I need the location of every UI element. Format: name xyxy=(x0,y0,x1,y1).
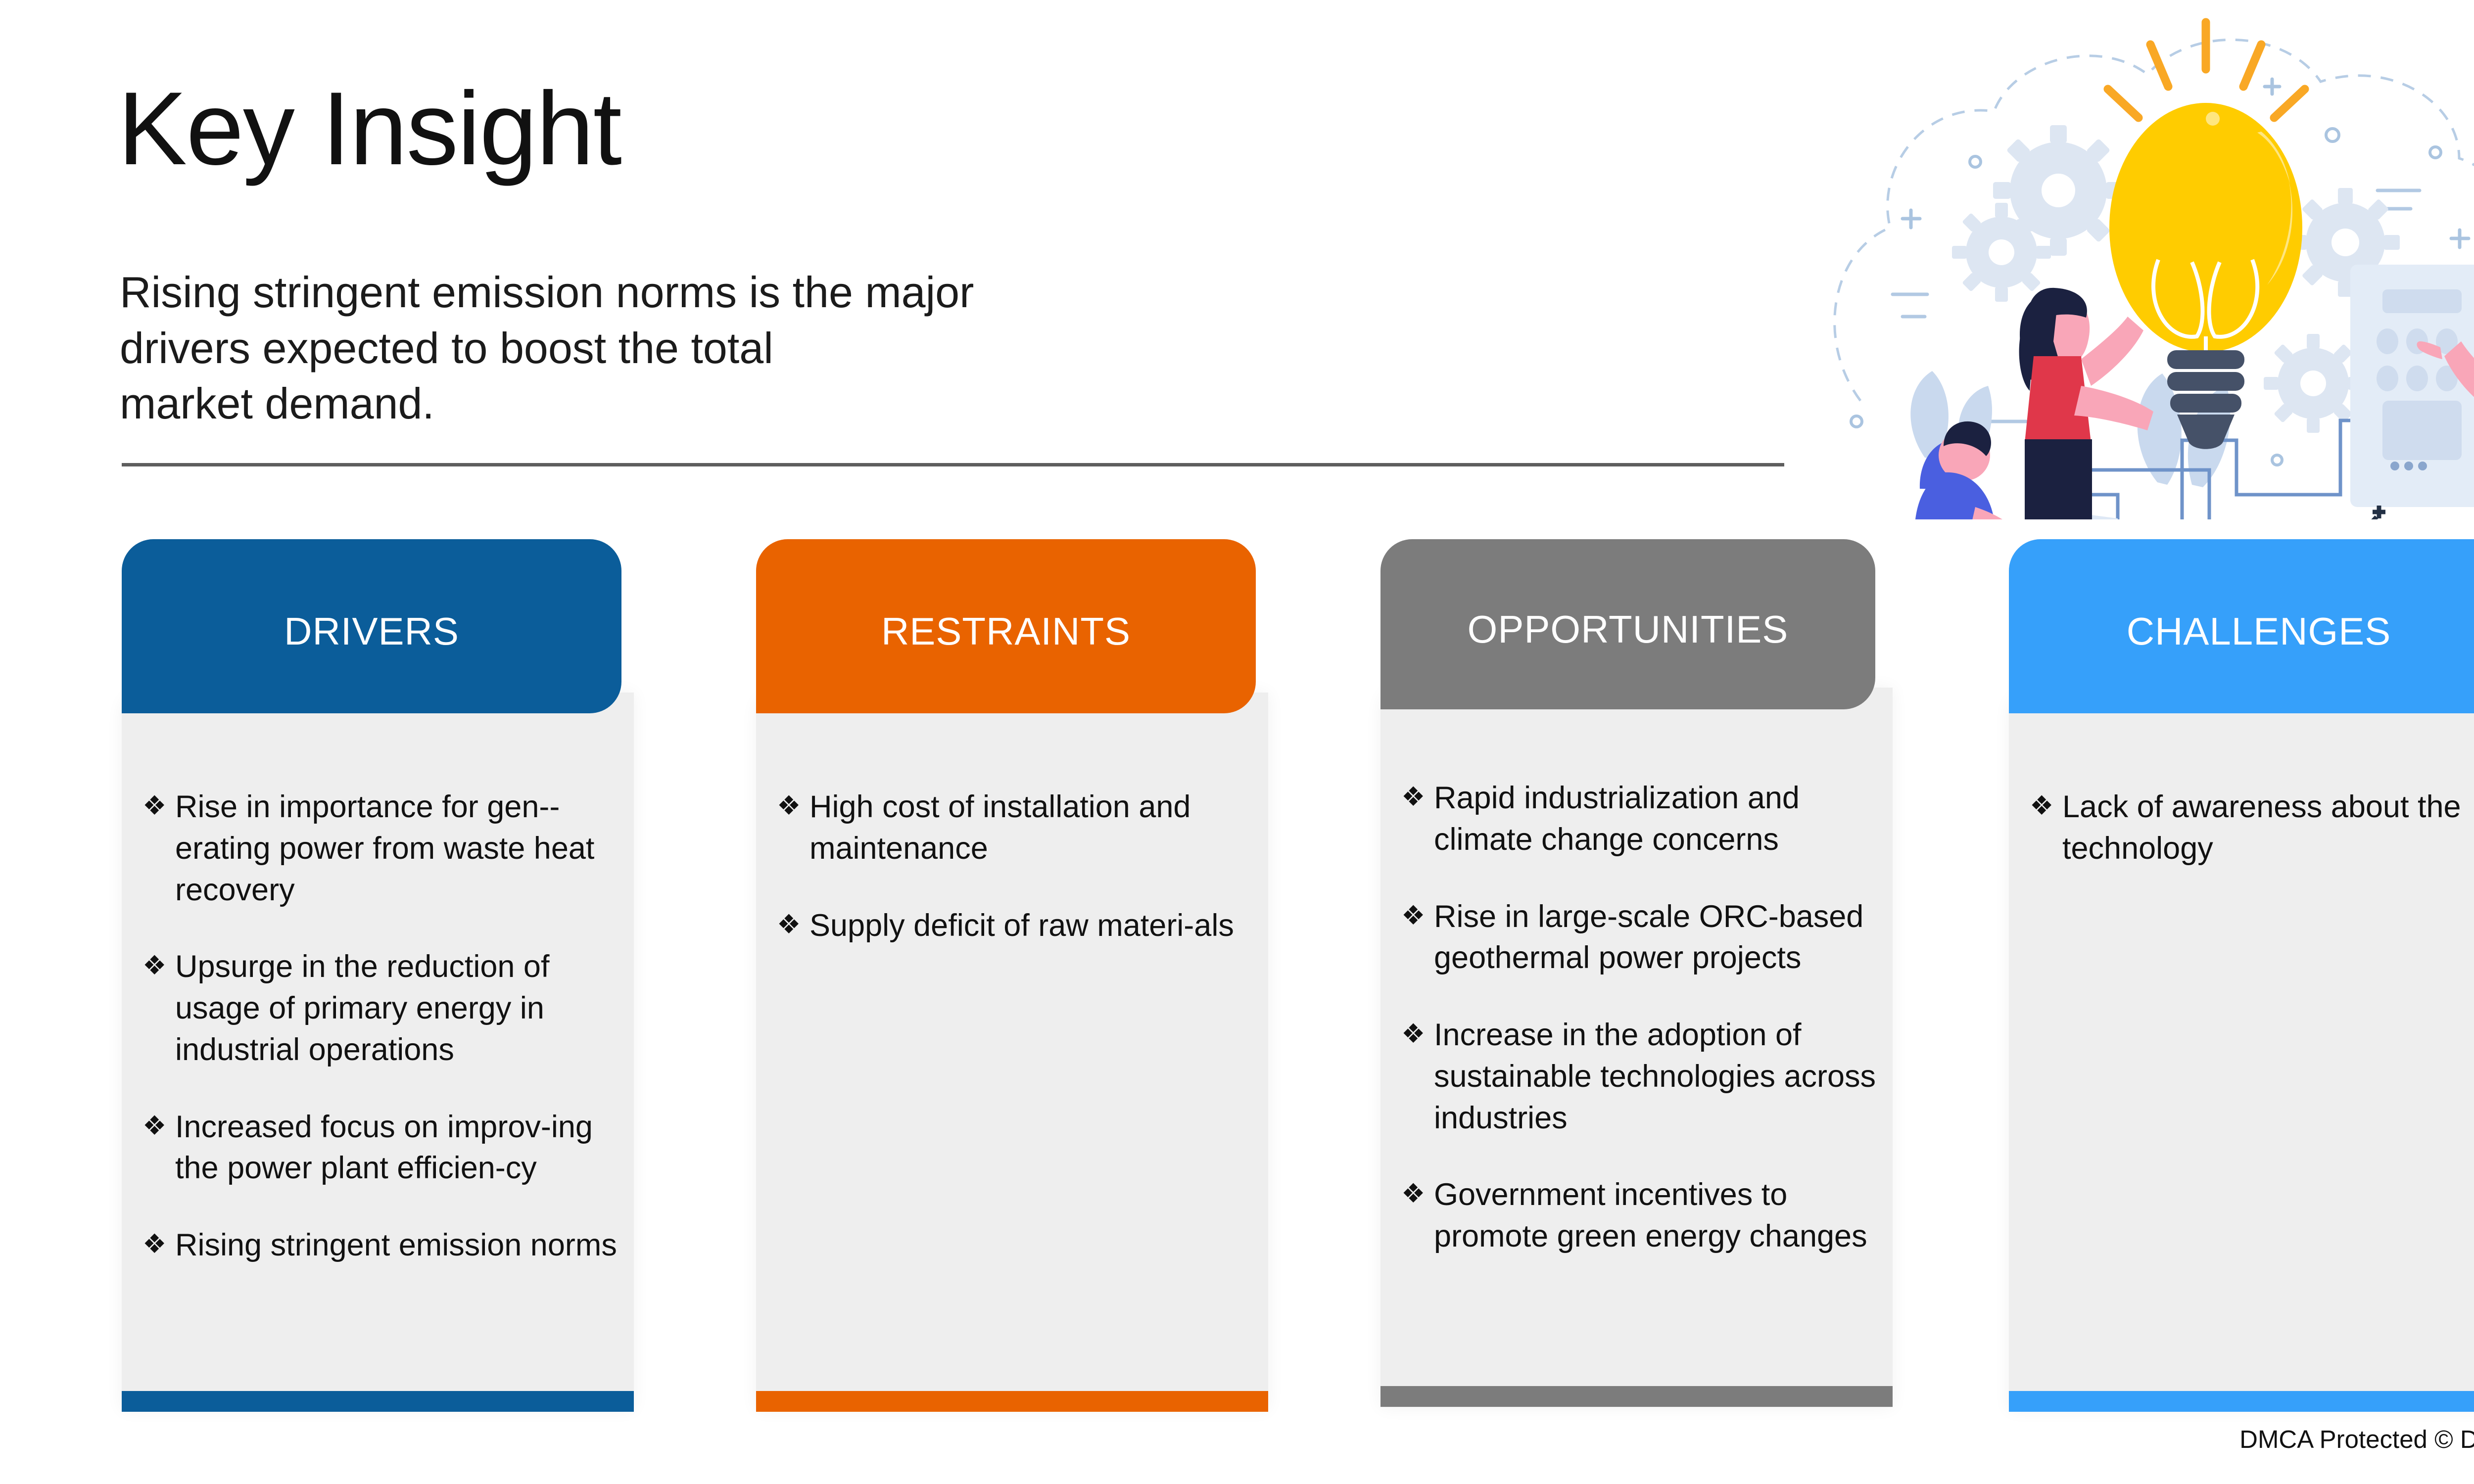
bullet-list-opportunities: ❖ Rapid industrialization and climate ch… xyxy=(1401,778,1876,1257)
list-item: ❖ Rising stringent emission norms xyxy=(143,1225,618,1266)
list-item: ❖ Supply deficit of raw materi-­als xyxy=(777,905,1252,947)
list-item-text: Rising stringent emission norms xyxy=(175,1225,618,1266)
diamond-bullet-icon: ❖ xyxy=(143,1107,175,1144)
list-item-text: Rise in importance for gen-­erating powe… xyxy=(175,787,618,911)
card-body-opportunities: ❖ Rapid industrialization and climate ch… xyxy=(1380,688,1893,1407)
list-item: ❖ Rapid industrialization and climate ch… xyxy=(1401,778,1876,861)
list-item-text: Increase in the adoption of sustainable … xyxy=(1434,1015,1876,1139)
card-body-challenges: ❖ Lack of awareness about the technology xyxy=(2009,693,2474,1410)
diamond-bullet-icon: ❖ xyxy=(2030,787,2062,824)
page-title: Key Insight xyxy=(118,74,621,184)
diamond-bullet-icon: ❖ xyxy=(143,787,175,824)
list-item-text: Government incentives to promote green e… xyxy=(1434,1174,1876,1257)
tab-restraints-label: RESTRAINTS xyxy=(881,612,1131,650)
tab-challenges-label: CHALLENGES xyxy=(2127,612,2391,650)
page-title-text: Key Insight xyxy=(118,70,621,186)
diamond-bullet-icon: ❖ xyxy=(143,1225,175,1262)
tab-opportunities[interactable]: OPPORTUNITIES xyxy=(1380,539,1875,709)
list-item-text: High cost of installation and maintenanc… xyxy=(809,787,1252,870)
page-subtitle-line-1: Rising stringent emission norms is the m… xyxy=(120,265,974,321)
diamond-bullet-icon: ❖ xyxy=(143,946,175,984)
list-item: ❖ Increased focus on improv-­ing the pow… xyxy=(143,1107,618,1190)
list-item-text: Rapid industrialization and climate chan… xyxy=(1434,778,1876,861)
list-item-text: Upsurge in the reduction of usage of pri… xyxy=(175,946,618,1070)
diamond-bullet-icon: ❖ xyxy=(1401,778,1434,815)
tab-challenges[interactable]: CHALLENGES xyxy=(2009,539,2474,713)
list-item: ❖ Rise in importance for gen-­erating po… xyxy=(143,787,618,911)
tab-drivers-label: DRIVERS xyxy=(284,612,459,650)
list-item: ❖ Rise in large-scale ORC-based geotherm… xyxy=(1401,896,1876,979)
bullet-list-challenges: ❖ Lack of awareness about the technology xyxy=(2030,787,2474,870)
bullet-list-restraints: ❖ High cost of installation and maintena… xyxy=(777,787,1252,946)
card-body-restraints: ❖ High cost of installation and maintena… xyxy=(756,693,1268,1410)
diamond-bullet-icon: ❖ xyxy=(777,787,809,824)
idea-lightbulb-teamwork-illustration xyxy=(1801,0,2474,519)
header-divider xyxy=(122,463,1784,466)
footer-credit: DMCA Protected © DataBridge xyxy=(2239,1425,2474,1454)
tab-opportunities-label: OPPORTUNITIES xyxy=(1468,610,1789,649)
accent-bar-restraints xyxy=(756,1391,1268,1412)
list-item-text: Supply deficit of raw materi-­als xyxy=(809,905,1252,947)
tab-drivers[interactable]: DRIVERS xyxy=(122,539,621,713)
list-item-text: Rise in large-scale ORC-based geothermal… xyxy=(1434,896,1876,979)
diamond-bullet-icon: ❖ xyxy=(1401,896,1434,934)
accent-bar-opportunities xyxy=(1380,1386,1893,1407)
bullet-list-drivers: ❖ Rise in importance for gen-­erating po… xyxy=(143,787,618,1266)
list-item: ❖ Government incentives to promote green… xyxy=(1401,1174,1876,1257)
list-item: ❖ Lack of awareness about the technology xyxy=(2030,787,2474,870)
list-item: ❖ High cost of installation and maintena… xyxy=(777,787,1252,870)
accent-bar-challenges xyxy=(2009,1391,2474,1412)
diamond-bullet-icon: ❖ xyxy=(1401,1015,1434,1052)
diamond-bullet-icon: ❖ xyxy=(1401,1174,1434,1212)
page-subtitle: Rising stringent emission norms is the m… xyxy=(120,265,974,432)
list-item: ❖ Upsurge in the reduction of usage of p… xyxy=(143,946,618,1070)
accent-bar-drivers xyxy=(122,1391,634,1412)
list-item: ❖ Increase in the adoption of sustainabl… xyxy=(1401,1015,1876,1139)
diamond-bullet-icon: ❖ xyxy=(777,905,809,943)
page-subtitle-line-3: market demand. xyxy=(120,376,974,432)
page-subtitle-line-2: drivers expected to boost the total xyxy=(120,321,974,376)
list-item-text: Lack of awareness about the technology xyxy=(2062,787,2474,870)
list-item-text: Increased focus on improv-­ing the power… xyxy=(175,1107,618,1190)
tab-restraints[interactable]: RESTRAINTS xyxy=(756,539,1256,713)
card-body-drivers: ❖ Rise in importance for gen-­erating po… xyxy=(122,693,634,1410)
